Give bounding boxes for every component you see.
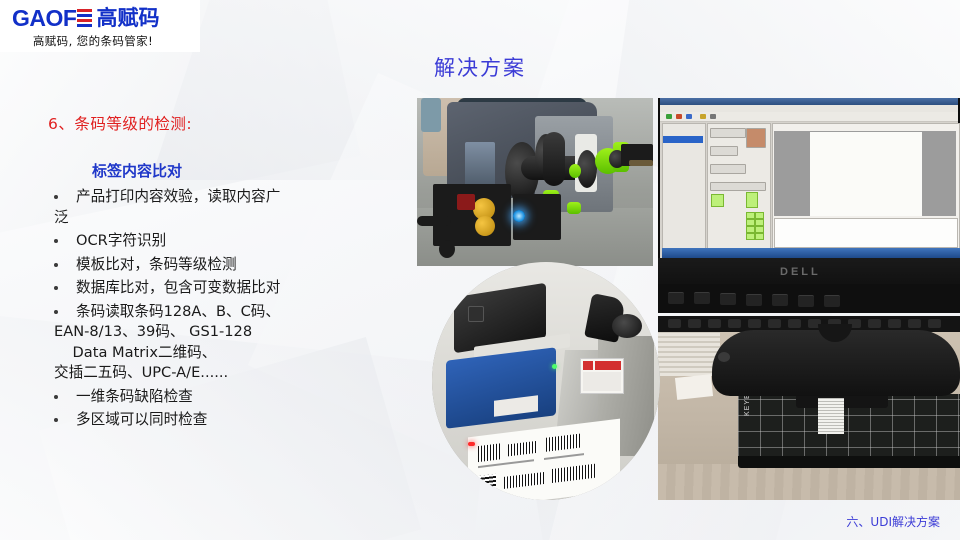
company-logo: GAOF 高赋码 高赋码, 您的条码管家! <box>0 0 200 52</box>
content-subheading: 标签内容比对 <box>92 160 400 181</box>
status-led-icon <box>552 364 557 369</box>
zebra-logo-icon <box>468 306 484 322</box>
slide-footer: 六、UDI解决方案 <box>846 513 940 530</box>
bullet-line: 交插二五码、UPC-A/E...... <box>54 363 400 384</box>
logo-bars-icon <box>77 9 92 27</box>
content-column: 6、条码等级的检测: 标签内容比对 产品打印内容效验，读取内容广 泛 OCR字符… <box>40 112 400 434</box>
list-item: OCR字符识别 <box>40 231 400 252</box>
run-button-icon <box>711 194 724 207</box>
section-heading: 6、条码等级的检测: <box>48 112 400 134</box>
laptop-screen: D08A-12TS13 05AH1(K) 9305G EA 12 V DC 0.… <box>660 98 958 258</box>
laptop-brand-text: DELL <box>780 266 821 278</box>
photo-zebra-scanner <box>432 262 660 500</box>
list-item: 产品打印内容效验，读取内容广 泛 <box>40 187 400 228</box>
camera-lens-icon <box>718 352 730 362</box>
list-item: 一维条码缺陷检查 <box>40 387 400 408</box>
bullet-line: 条码读取条码128A、B、C码、 <box>76 303 280 320</box>
warning-label <box>580 358 624 394</box>
page-title: 解决方案 <box>0 52 960 82</box>
feature-bullet-list: 产品打印内容效验，读取内容广 泛 OCR字符识别 模板比对，条码等级检测 数据库… <box>40 187 400 431</box>
list-item: 条码读取条码128A、B、C码、 EAN-8/13、39码、 GS1-128 D… <box>40 302 400 384</box>
bullet-line: 产品打印内容效验，读取内容广 <box>76 188 280 205</box>
bullet-line: OCR字符识别 <box>76 232 166 249</box>
product-label-image: D08A-12TS13 05AH1(K) 9305G EA 12 V DC 0.… <box>810 132 922 216</box>
bullet-line: 泛 <box>54 208 400 229</box>
bullet-line: 一维条码缺陷检查 <box>76 388 193 405</box>
bullet-line: 数据库比对，包含可变数据比对 <box>76 279 280 296</box>
logo-wordmark-row: GAOF 高赋码 <box>0 0 200 31</box>
blue-vision-module <box>446 347 556 429</box>
list-item: 模板比对，条码等级检测 <box>40 255 400 276</box>
laser-line-icon <box>468 442 475 446</box>
slide-canvas: GAOF 高赋码 高赋码, 您的条码管家! 解决方案 6、条码等级的检测: 标签… <box>0 0 960 540</box>
list-item: 数据库比对，包含可变数据比对 <box>40 278 400 299</box>
logo-latin-text: GAOF <box>12 7 76 30</box>
photo-keyence-reader: KEYENCE <box>658 316 960 500</box>
bullet-line: 模板比对，条码等级检测 <box>76 256 237 273</box>
photo-inspection-screen: D08A-12TS13 05AH1(K) 9305G EA 12 V DC 0.… <box>658 98 960 313</box>
bullet-line: 多区域可以同时检查 <box>76 411 207 428</box>
inspected-strip <box>818 398 844 434</box>
photo-label-printer <box>417 98 653 266</box>
laser-indicator-icon <box>513 210 525 222</box>
logo-tagline: 高赋码, 您的条码管家! <box>0 33 186 49</box>
list-item: 多区域可以同时检查 <box>40 410 400 431</box>
bullet-line: EAN-8/13、39码、 GS1-128 <box>54 322 400 343</box>
logo-chinese-text: 高赋码 <box>96 8 159 29</box>
bullet-line: Data Matrix二维码、 <box>54 343 400 364</box>
